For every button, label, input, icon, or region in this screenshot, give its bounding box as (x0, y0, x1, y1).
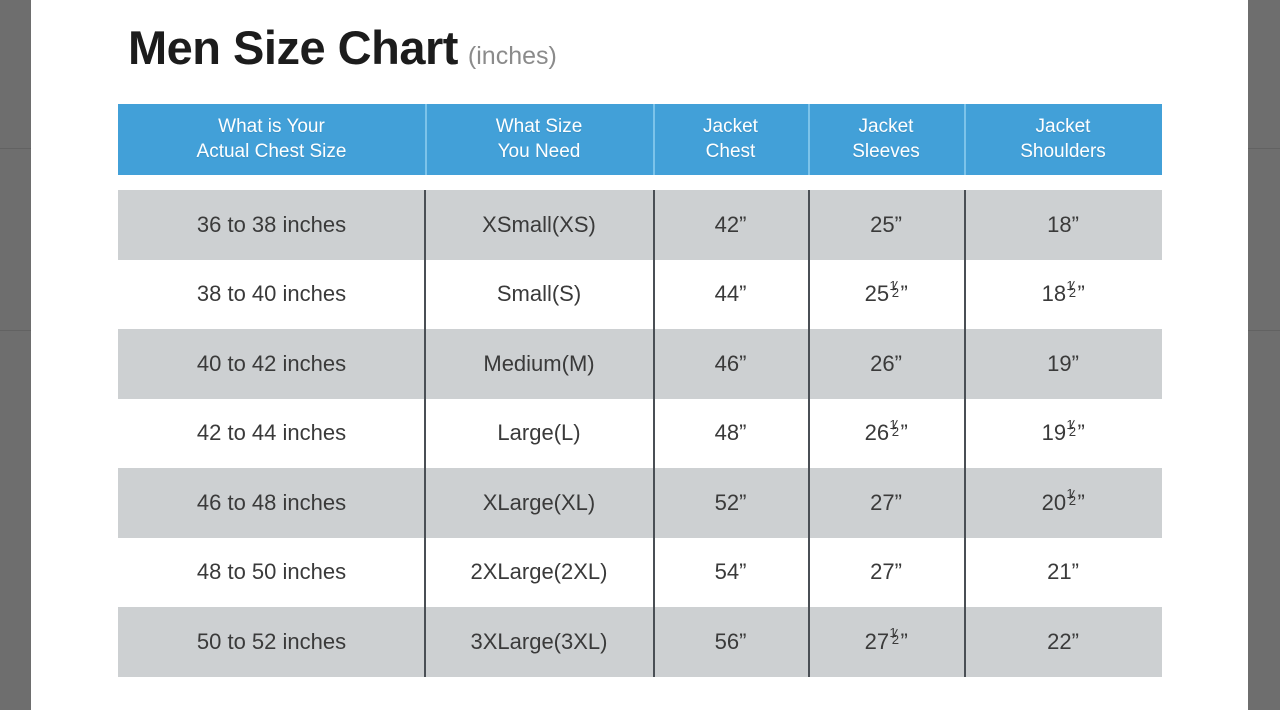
header-line-1: What is Your (218, 115, 325, 139)
column-header-actual-chest-size: What is Your Actual Chest Size (118, 104, 425, 175)
cell-chest-range: 48 to 50 inches (118, 538, 425, 608)
cell-jacket-shoulders: 22” (964, 607, 1162, 677)
cell-jacket-shoulders: 2012” (964, 468, 1162, 538)
cell-jacket-chest: 46” (653, 329, 808, 399)
half-fraction-glyph: 12 (1066, 422, 1077, 444)
cell-jacket-shoulders: 21” (964, 538, 1162, 608)
inch-mark: ” (901, 283, 908, 305)
header-line-1: Jacket (703, 115, 758, 139)
cell-jacket-sleeves: 26” (808, 329, 964, 399)
cell-size-needed: XLarge(XL) (425, 468, 653, 538)
title-main-text: Men Size Chart (128, 20, 458, 75)
cell-chest-range: 50 to 52 inches (118, 607, 425, 677)
cell-size-needed: Small(S) (425, 260, 653, 330)
table-row: 42 to 44 inches Large(L) 48” 2612” 1912” (118, 399, 1162, 469)
half-fraction-glyph: 12 (889, 422, 900, 444)
cell-jacket-chest: 54” (653, 538, 808, 608)
cell-jacket-chest: 44” (653, 260, 808, 330)
table-row: 50 to 52 inches 3XLarge(3XL) 56” 2712” 2… (118, 607, 1162, 677)
letterbox-right (1248, 0, 1280, 710)
inch-mark: ” (901, 422, 908, 444)
cell-size-needed: 3XLarge(3XL) (425, 607, 653, 677)
half-fraction-glyph: 12 (889, 631, 900, 653)
inch-mark: ” (1078, 283, 1085, 305)
header-line-2: Chest (706, 140, 756, 164)
header-body-gap (118, 175, 1162, 190)
title-units-text: (inches) (468, 42, 557, 71)
size-chart-table: What is Your Actual Chest Size What Size… (118, 104, 1162, 677)
cell-jacket-sleeves: 2512” (808, 260, 964, 330)
cell-jacket-sleeves: 2712” (808, 607, 964, 677)
cell-jacket-chest: 56” (653, 607, 808, 677)
cell-jacket-sleeves: 27” (808, 538, 964, 608)
letterbox-seam (0, 148, 31, 149)
header-line-1: Jacket (859, 115, 914, 139)
table-header-row: What is Your Actual Chest Size What Size… (118, 104, 1162, 175)
cell-jacket-sleeves: 27” (808, 468, 964, 538)
inch-mark: ” (901, 631, 908, 653)
half-fraction-glyph: 12 (1066, 492, 1077, 514)
table-row: 48 to 50 inches 2XLarge(2XL) 54” 27” 21” (118, 538, 1162, 608)
cell-size-needed: 2XLarge(2XL) (425, 538, 653, 608)
inch-mark: ” (1078, 492, 1085, 514)
header-line-2: Actual Chest Size (197, 140, 347, 164)
header-line-2: Sleeves (852, 140, 920, 164)
cell-jacket-shoulders: 1912” (964, 399, 1162, 469)
table-row: 38 to 40 inches Small(S) 44” 2512” 1812” (118, 260, 1162, 330)
half-fraction-glyph: 12 (1066, 283, 1077, 305)
cell-size-needed: Large(L) (425, 399, 653, 469)
cell-size-needed: XSmall(XS) (425, 190, 653, 260)
table-row: 46 to 48 inches XLarge(XL) 52” 27” 2012” (118, 468, 1162, 538)
letterbox-seam (1248, 148, 1280, 149)
table-body: 36 to 38 inches XSmall(XS) 42” 25” 18” 3… (118, 190, 1162, 677)
cell-chest-range: 36 to 38 inches (118, 190, 425, 260)
column-header-size-you-need: What Size You Need (425, 104, 653, 175)
cell-jacket-shoulders: 19” (964, 329, 1162, 399)
cell-jacket-shoulders: 18” (964, 190, 1162, 260)
cell-jacket-chest: 42” (653, 190, 808, 260)
header-line-1: Jacket (1036, 115, 1091, 139)
size-chart-page: Men Size Chart (inches) What is Your Act… (0, 0, 1280, 710)
table-row: 36 to 38 inches XSmall(XS) 42” 25” 18” (118, 190, 1162, 260)
header-line-2: Shoulders (1020, 140, 1106, 164)
slide-canvas: Men Size Chart (inches) What is Your Act… (31, 0, 1248, 710)
inch-mark: ” (1078, 422, 1085, 444)
page-title: Men Size Chart (inches) (128, 20, 557, 75)
cell-jacket-chest: 52” (653, 468, 808, 538)
half-fraction-glyph: 12 (889, 283, 900, 305)
cell-chest-range: 40 to 42 inches (118, 329, 425, 399)
cell-jacket-chest: 48” (653, 399, 808, 469)
letterbox-left (0, 0, 31, 710)
header-line-2: You Need (498, 140, 581, 164)
cell-jacket-sleeves: 2612” (808, 399, 964, 469)
cell-chest-range: 42 to 44 inches (118, 399, 425, 469)
table-row: 40 to 42 inches Medium(M) 46” 26” 19” (118, 329, 1162, 399)
cell-chest-range: 38 to 40 inches (118, 260, 425, 330)
letterbox-seam (1248, 330, 1280, 331)
column-header-jacket-chest: Jacket Chest (653, 104, 808, 175)
column-header-jacket-shoulders: Jacket Shoulders (964, 104, 1162, 175)
cell-jacket-shoulders: 1812” (964, 260, 1162, 330)
letterbox-seam (0, 330, 31, 331)
cell-size-needed: Medium(M) (425, 329, 653, 399)
cell-chest-range: 46 to 48 inches (118, 468, 425, 538)
cell-jacket-sleeves: 25” (808, 190, 964, 260)
column-header-jacket-sleeves: Jacket Sleeves (808, 104, 964, 175)
header-line-1: What Size (496, 115, 583, 139)
